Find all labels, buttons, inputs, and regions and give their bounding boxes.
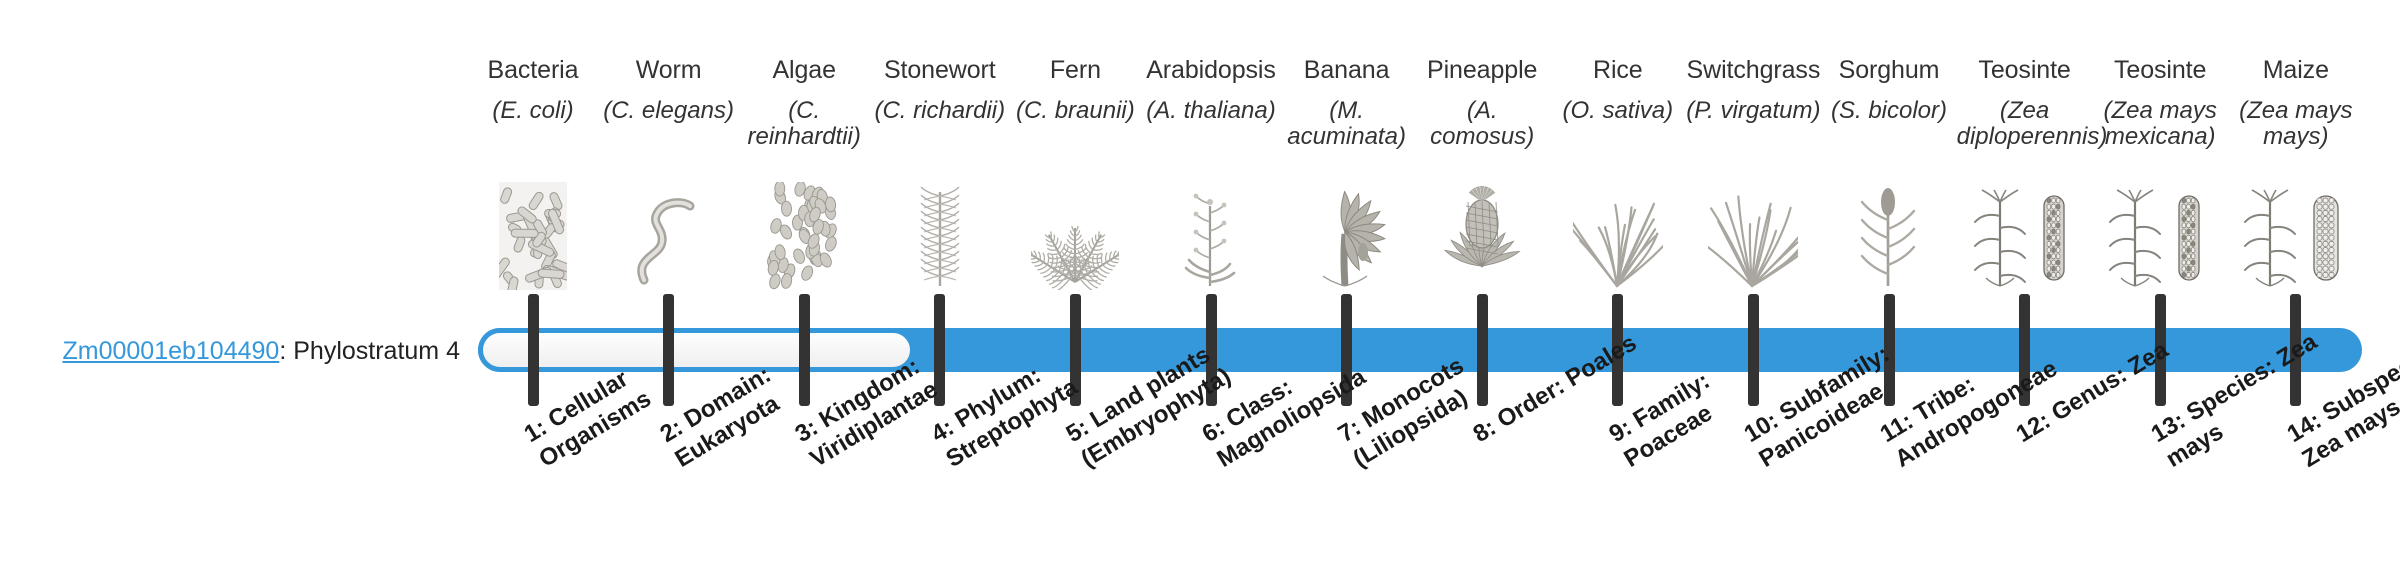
rice-plant-icon: [1550, 172, 1686, 290]
species-scientific-name: (C. reinhardtii): [736, 98, 872, 152]
species-scientific-name: (Zea mays mexicana): [2092, 98, 2228, 152]
species-scientific-name: (O. sativa): [1550, 98, 1686, 125]
species-column-arabidopsis-5: Arabidopsis(A. thaliana): [1143, 56, 1279, 124]
species-column-teosinte-12: Teosinte(Zea mays mexicana): [2092, 56, 2228, 151]
species-column-worm-1: Worm(C. elegans): [601, 56, 737, 124]
gene-phylostratum-label: Zm00001eb104490: Phylostratum 4: [40, 336, 460, 366]
species-scientific-name: (C. braunii): [1007, 98, 1143, 125]
pineapple-plant-icon: [1414, 172, 1550, 290]
species-common-name: Sorghum: [1821, 56, 1957, 86]
species-common-name: Banana: [1279, 56, 1415, 86]
gene-id-link[interactable]: Zm00001eb104490: [62, 337, 279, 365]
teosinte-plant-ear-icon: [2092, 172, 2228, 290]
species-column-rice-8: Rice(O. sativa): [1550, 56, 1686, 124]
species-column-fern-4: Fern(C. braunii): [1007, 56, 1143, 124]
phylostratum-timeline-figure: Zm00001eb104490: Phylostratum 4 Bacteria…: [0, 0, 2400, 580]
species-common-name: Switchgrass: [1685, 56, 1821, 86]
sorghum-plant-icon: [1821, 172, 1957, 290]
species-column-banana-6: Banana(M. acuminata): [1279, 56, 1415, 151]
fern-frond-icon: [1007, 172, 1143, 290]
algae-cells-icon: [736, 172, 872, 290]
species-scientific-name: (A. thaliana): [1143, 98, 1279, 125]
gene-phylostratum-text: : Phylostratum 4: [279, 337, 460, 365]
species-column-bacteria-0: Bacteria(E. coli): [465, 56, 601, 124]
species-column-maize-13: Maize(Zea mays mays): [2228, 56, 2364, 151]
species-common-name: Fern: [1007, 56, 1143, 86]
species-common-name: Maize: [2228, 56, 2364, 86]
species-common-name: Algae: [736, 56, 872, 86]
maize-plant-cob-icon: [2228, 172, 2364, 290]
species-scientific-name: (Zea diploperennis): [1957, 98, 2093, 152]
bar-tick-1: [528, 294, 539, 406]
species-common-name: Arabidopsis: [1143, 56, 1279, 86]
species-column-sorghum-10: Sorghum(S. bicolor): [1821, 56, 1957, 124]
species-column-switchgrass-9: Switchgrass(P. virgatum): [1685, 56, 1821, 124]
species-scientific-name: (S. bicolor): [1821, 98, 1957, 125]
species-common-name: Pineapple: [1414, 56, 1550, 86]
species-column-teosinte-11: Teosinte(Zea diploperennis): [1957, 56, 2093, 151]
bacteria-rods-icon: [465, 172, 601, 290]
banana-plant-icon: [1279, 172, 1415, 290]
species-scientific-name: (E. coli): [465, 98, 601, 125]
species-common-name: Rice: [1550, 56, 1686, 86]
teosinte-plant-ear-icon: [1957, 172, 2093, 290]
species-common-name: Worm: [601, 56, 737, 86]
species-common-name: Teosinte: [1957, 56, 2093, 86]
species-column-pineapple-7: Pineapple(A. comosus): [1414, 56, 1550, 151]
nematode-worm-icon: [601, 172, 737, 290]
species-scientific-name: (Zea mays mays): [2228, 98, 2364, 152]
species-column-stonewort-3: Stonewort(C. richardii): [872, 56, 1008, 124]
species-common-name: Stonewort: [872, 56, 1008, 86]
stonewort-alga-icon: [872, 172, 1008, 290]
species-scientific-name: (C. richardii): [872, 98, 1008, 125]
species-scientific-name: (A. comosus): [1414, 98, 1550, 152]
species-common-name: Teosinte: [2092, 56, 2228, 86]
switchgrass-plant-icon: [1685, 172, 1821, 290]
species-column-algae-2: Algae(C. reinhardtii): [736, 56, 872, 151]
species-scientific-name: (M. acuminata): [1279, 98, 1415, 152]
species-common-name: Bacteria: [465, 56, 601, 86]
arabidopsis-plant-icon: [1143, 172, 1279, 290]
species-scientific-name: (P. virgatum): [1685, 98, 1821, 125]
species-scientific-name: (C. elegans): [601, 98, 737, 125]
